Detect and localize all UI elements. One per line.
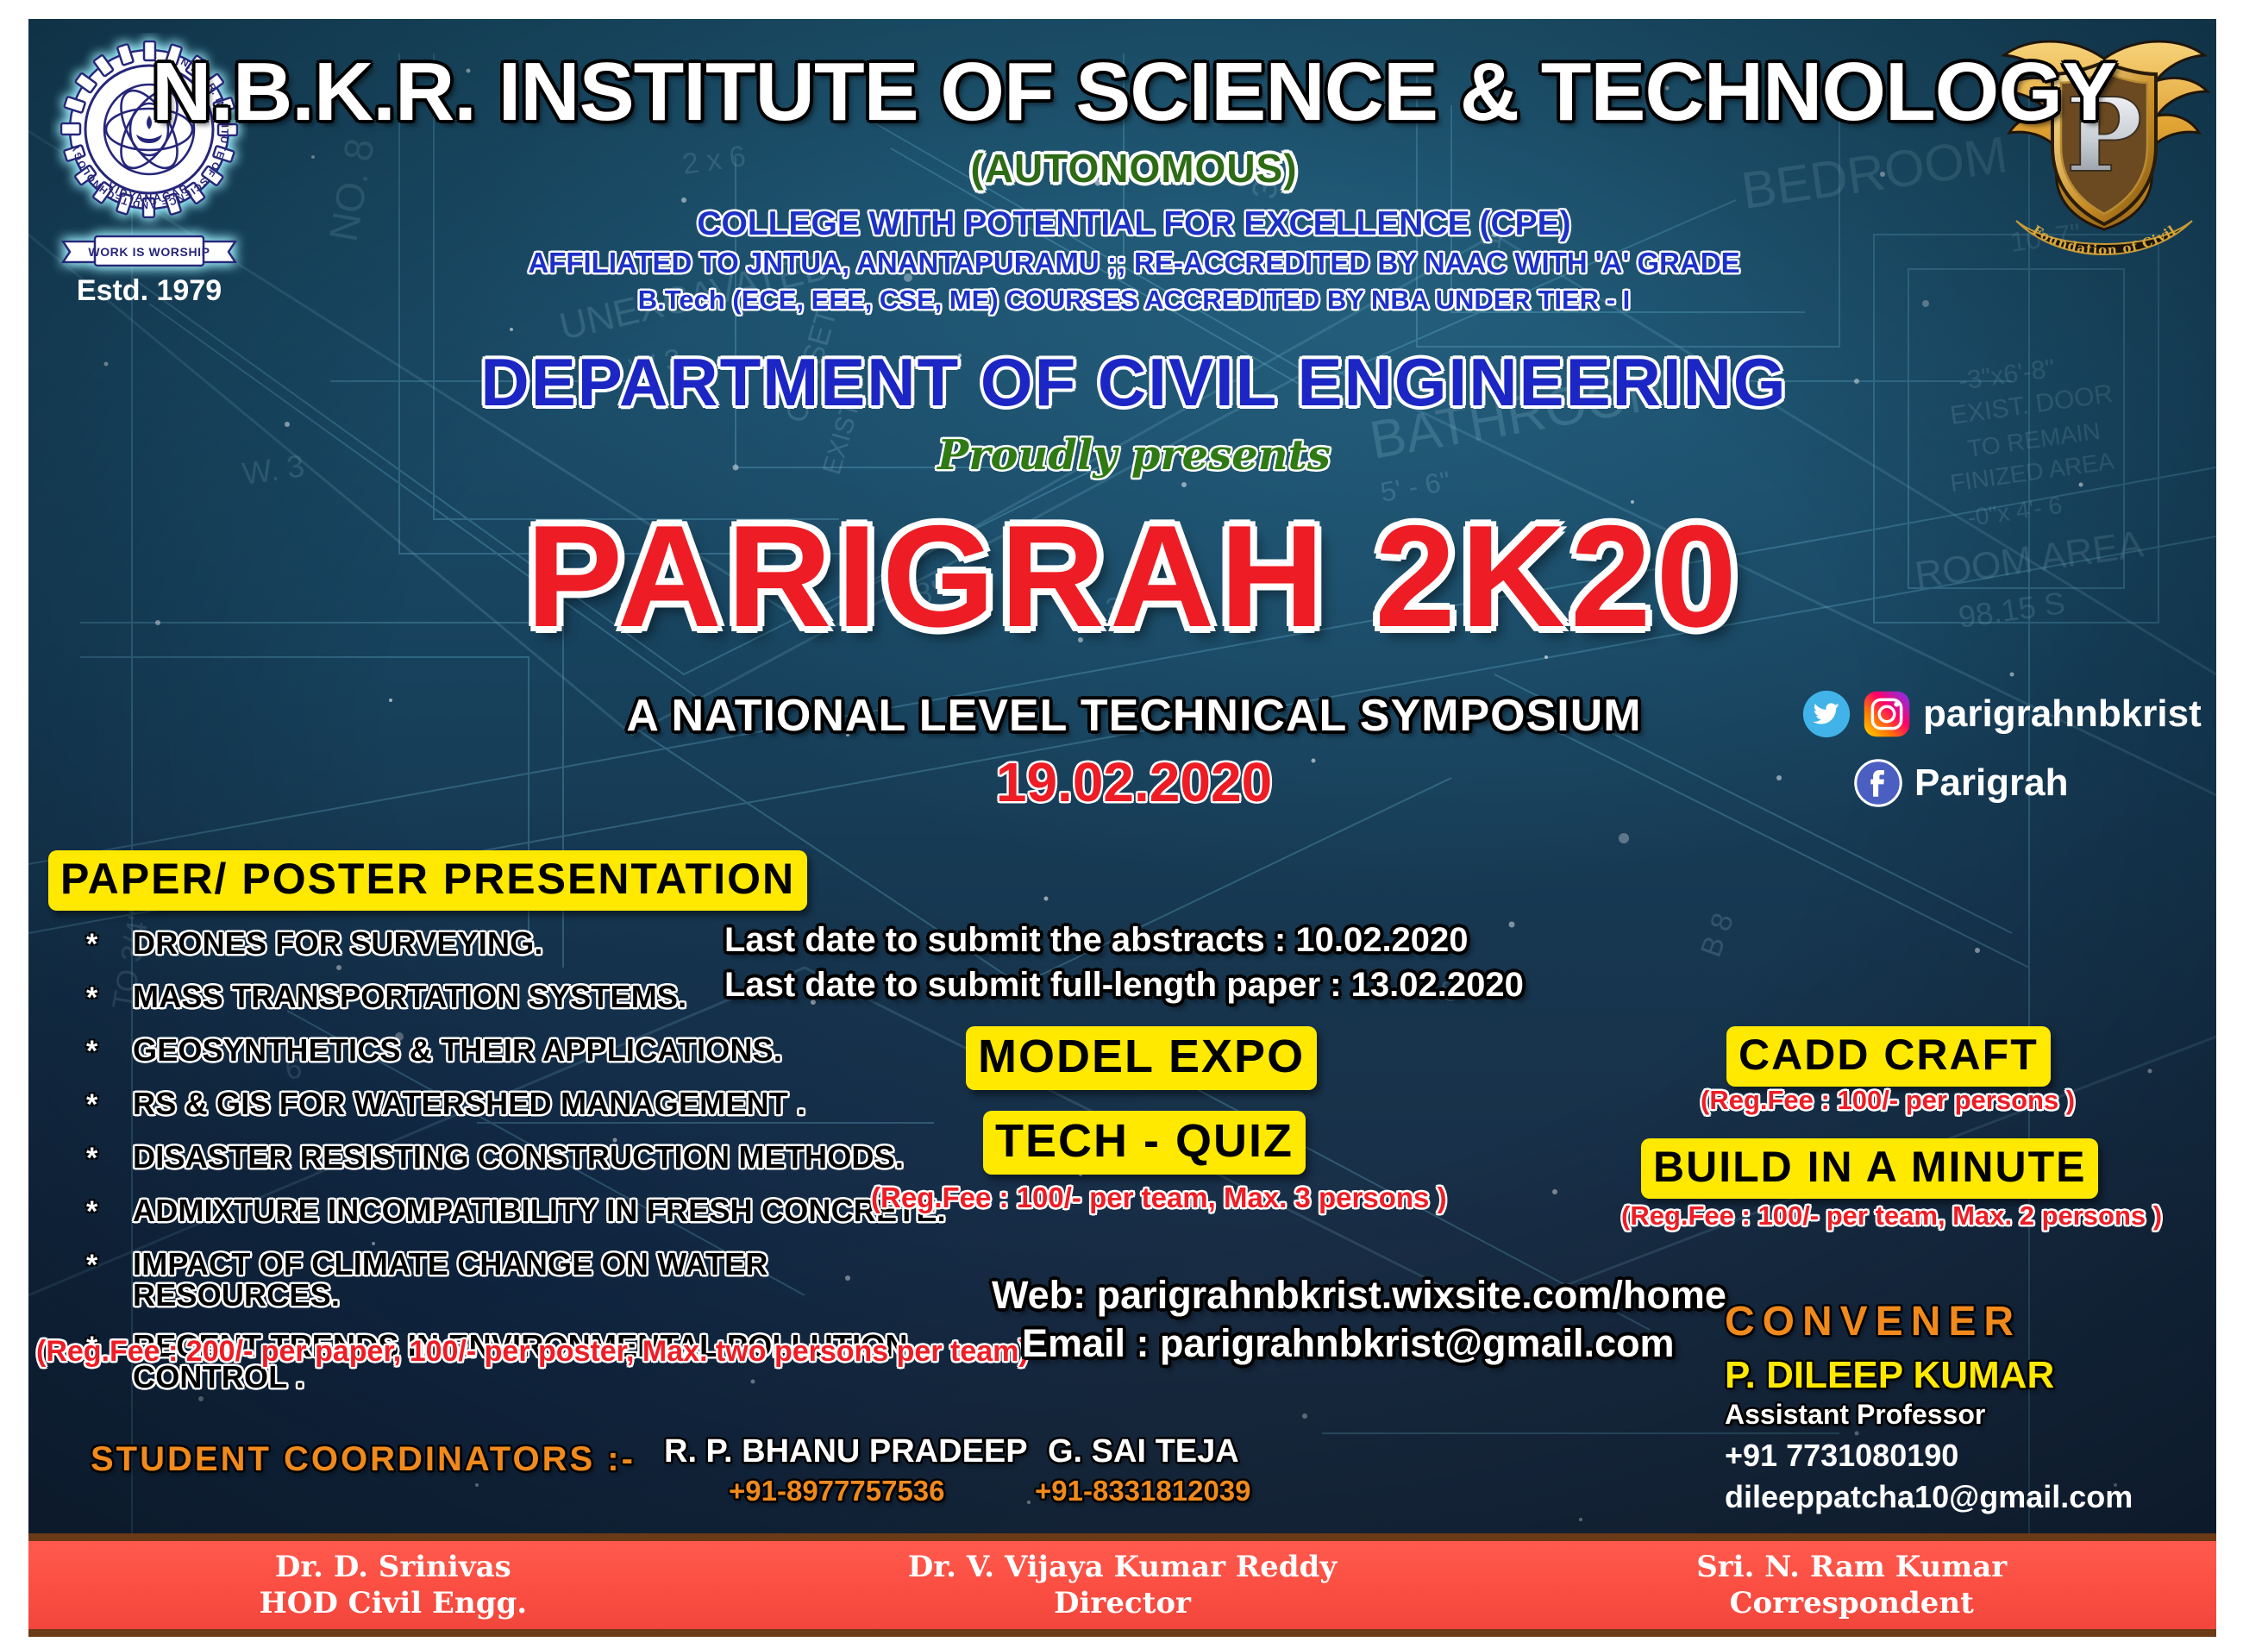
paper-topic-label: ADMIXTURE INCOMPATIBILITY IN FRESH CONCR… [133,1195,946,1226]
paper-topic-item: *GEOSYNTHETICS & THEIR APPLICATIONS. [86,1035,966,1069]
footer-person-1-role: HOD Civil Engg. [28,1585,758,1622]
footer-person-1-name: Dr. D. Srinivas [28,1549,758,1586]
bullet-star-icon: * [86,981,133,1015]
bullet-star-icon: * [86,1142,133,1175]
deadline-abstract: Last date to submit the abstracts : 10.0… [724,921,1469,960]
instagram-icon[interactable] [1863,690,1911,738]
bullet-star-icon: * [86,1088,133,1122]
student-coordinators-label: STUDENT COORDINATORS :- [91,1440,636,1479]
tech-quiz-wrap: TECH - QUIZ [983,1111,1306,1175]
footer-person-2-name: Dr. V. Vijaya Kumar Reddy [758,1549,1488,1586]
poster-root: UNEXCAVATED W 3 BEDROOM 10'-7" BATHROOM … [0,0,2268,1642]
instagram-handle: parigrahnbkrist [1923,693,2202,736]
department-title: DEPARTMENT OF CIVIL ENGINEERING [0,343,2268,422]
bullet-star-icon: * [86,1195,133,1229]
bullet-star-icon: * [86,1035,133,1069]
cadd-craft-wrap: CADD CRAFT [1726,1026,2051,1087]
paper-topic-item: *ADMIXTURE INCOMPATIBILITY IN FRESH CONC… [86,1195,966,1229]
model-expo-wrap: MODEL EXPO [966,1026,1317,1090]
paper-poster-heading: PAPER/ POSTER PRESENTATION [48,850,807,911]
convener-email[interactable]: dileeppatcha10@gmail.com [1725,1479,2133,1515]
footer-person-3-name: Sri. N. Ram Kumar [1487,1549,2216,1586]
paper-topic-label: IMPACT OF CLIMATE CHANGE ON WATER RESOUR… [133,1249,966,1311]
event-title: PARIGRAH 2K20 [0,493,2268,660]
paper-topic-label: DRONES FOR SURVEYING. [133,928,543,959]
footer-person-2-role: Director [758,1585,1488,1622]
footer-bar: Dr. D. Srinivas HOD Civil Engg. Dr. V. V… [28,1533,2216,1637]
cpe-label: COLLEGE WITH POTENTIAL FOR EXCELLENCE (C… [0,205,2268,243]
bullet-star-icon: * [86,1249,133,1282]
student-coordinator-2-phone: +91-8331812039 [1035,1475,1251,1507]
build-minute-fee-note: (Reg.Fee : 100/- per team, Max. 2 person… [1621,1200,2162,1231]
institute-title: N.B.K.R. INSTITUTE OF SCIENCE & TECHNOLO… [0,45,2268,140]
cadd-craft-heading: CADD CRAFT [1726,1026,2051,1087]
paper-topic-label: MASS TRANSPORTATION SYSTEMS. [133,981,686,1012]
facebook-icon[interactable] [1854,759,1902,807]
convener-label: CONVENER [1725,1298,2021,1345]
build-minute-heading: BUILD IN A MINUTE [1641,1138,2098,1199]
proudly-presents-label: Proudly presents [0,431,2268,479]
student-coordinator-1-name: R. P. BHANU PRADEEP [664,1433,1028,1470]
footer-person-3-role: Correspondent [1487,1585,2216,1622]
website-url[interactable]: Web: parigrahnbkrist.wixsite.com/home [992,1273,1726,1318]
facebook-handle: Parigrah [1914,761,2069,805]
paper-topic-item: *RS & GIS FOR WATERSHED MANAGEMENT . [86,1088,966,1122]
paper-topic-item: *DISASTER RESISTING CONSTRUCTION METHODS… [86,1142,966,1175]
student-coordinator-1-phone: +91-8977757536 [729,1475,945,1507]
build-minute-wrap: BUILD IN A MINUTE [1641,1138,2098,1199]
mid-events-fee-note: (Reg.Fee : 100/- per team, Max. 3 person… [871,1181,1447,1214]
convener-designation: Assistant Professor [1725,1399,1985,1431]
convener-name: P. DILEEP KUMAR [1725,1354,2054,1397]
contact-email[interactable]: Email : parigrahnbkrist@gmail.com [1022,1321,1675,1366]
twitter-icon[interactable] [1802,690,1851,738]
paper-topic-label: RS & GIS FOR WATERSHED MANAGEMENT . [133,1088,805,1119]
tech-quiz-heading: TECH - QUIZ [983,1111,1306,1175]
student-coordinator-2-name: G. SAI TEJA [1048,1433,1239,1470]
deadline-full-paper: Last date to submit full-length paper : … [724,966,1524,1005]
bullet-star-icon: * [86,928,133,962]
paper-topic-item: *IMPACT OF CLIMATE CHANGE ON WATER RESOU… [86,1249,966,1311]
autonomous-label: (AUTONOMOUS) [0,145,2268,191]
social-row-facebook[interactable]: Parigrah [1854,759,2069,807]
footer-person-3: Sri. N. Ram Kumar Correspondent [1487,1549,2216,1622]
social-row-instagram[interactable]: parigrahnbkrist [1802,690,2202,738]
footer-person-1: Dr. D. Srinivas HOD Civil Engg. [28,1549,758,1622]
paper-topic-label: DISASTER RESISTING CONSTRUCTION METHODS. [133,1142,904,1173]
nba-accreditation-label: B.Tech (ECE, EEE, CSE, ME) COURSES ACCRE… [0,285,2268,316]
affiliation-label: AFFILIATED TO JNTUA, ANANTAPURAMU ;; RE-… [0,247,2268,279]
paper-topic-label: GEOSYNTHETICS & THEIR APPLICATIONS. [133,1035,782,1066]
footer-person-2: Dr. V. Vijaya Kumar Reddy Director [758,1549,1488,1622]
paper-poster-heading-wrap: PAPER/ POSTER PRESENTATION [48,850,807,911]
model-expo-heading: MODEL EXPO [966,1026,1317,1090]
convener-phone: +91 7731080190 [1725,1438,1958,1474]
cadd-craft-fee-note: (Reg.Fee : 100/- per persons ) [1701,1085,2075,1116]
paper-fee-note: (Reg.Fee : 200/- per paper, 100/- per po… [36,1335,1029,1369]
